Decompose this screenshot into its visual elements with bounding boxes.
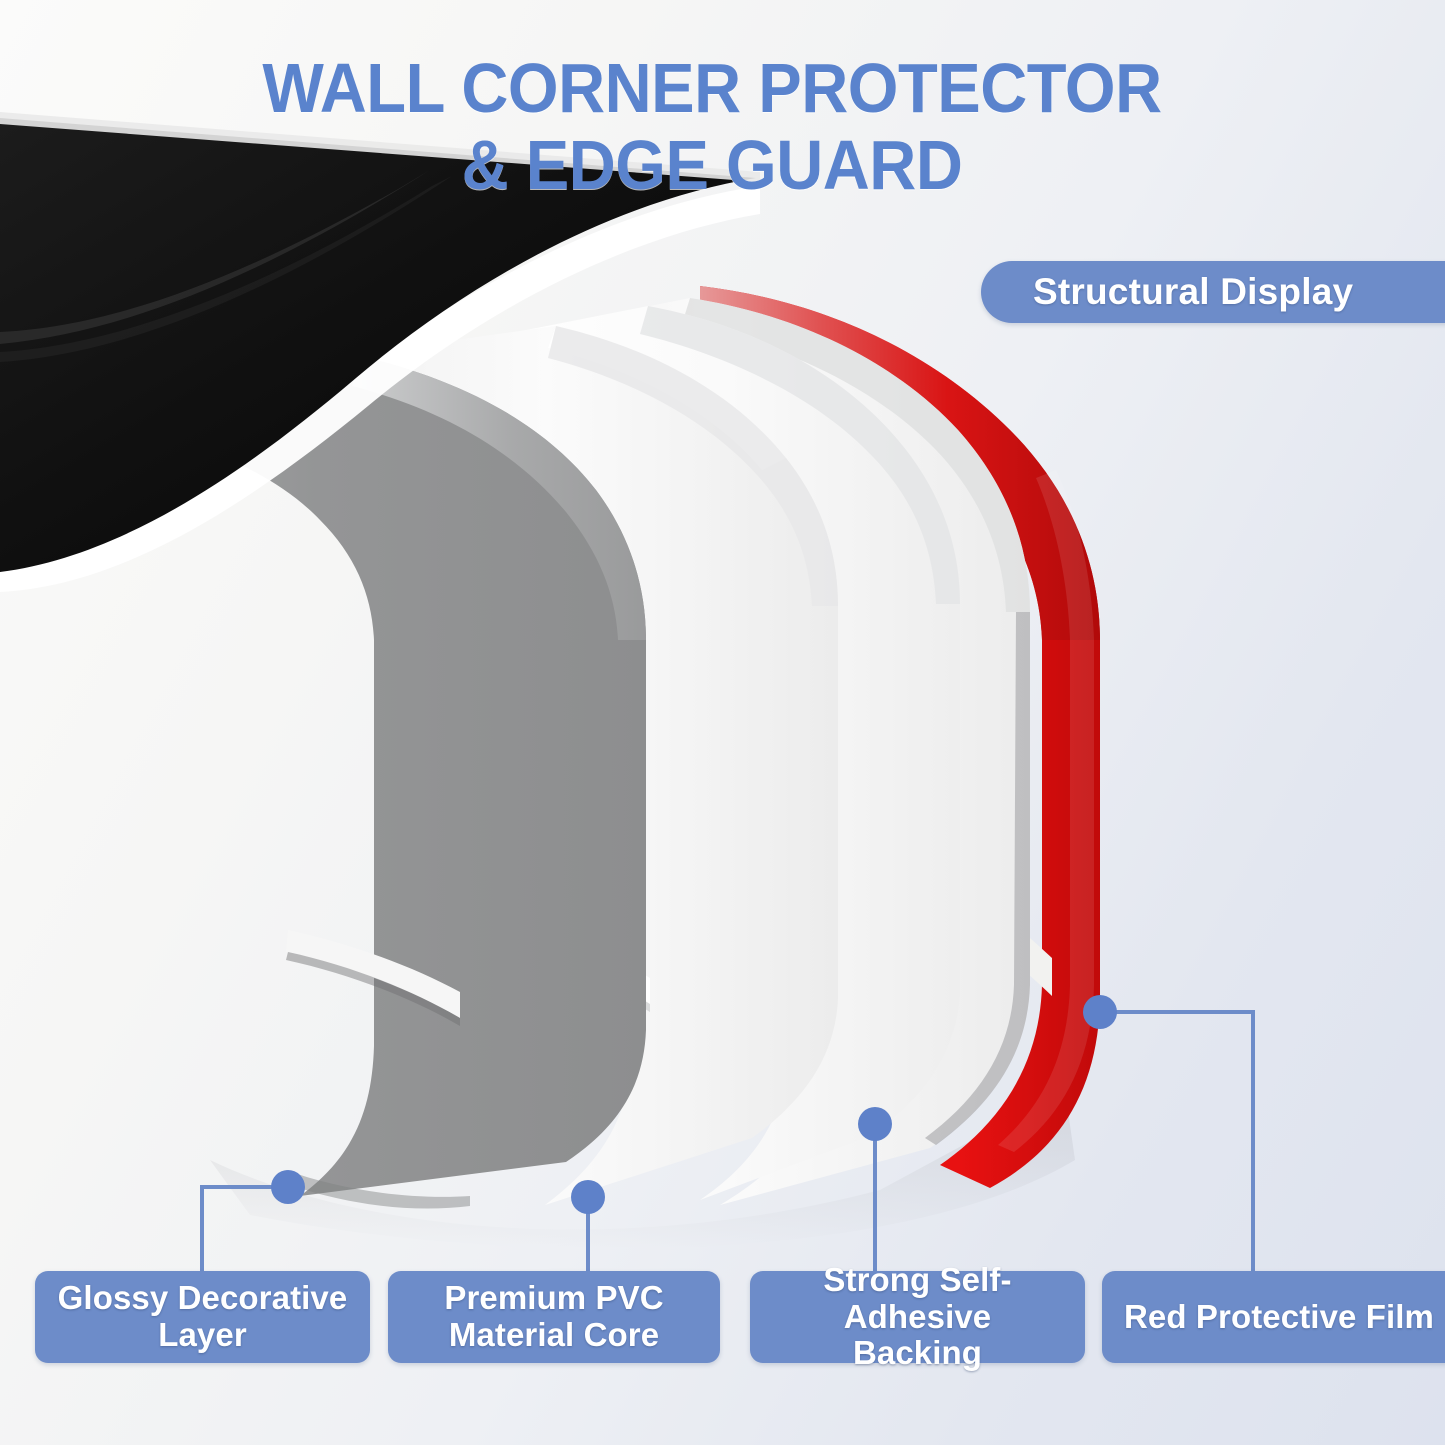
callout-label-strong-self-adhesive-backing: Strong Self-Adhesive Backing <box>750 1271 1085 1363</box>
page-title-line-1: WALL CORNER PROTECTOR <box>50 52 1374 125</box>
callout-label-line-1: Red Protective Film <box>1124 1298 1434 1335</box>
callout-label-premium-pvc-material-core: Premium PVC Material Core <box>388 1271 720 1363</box>
infographic-canvas: WALL CORNER PROTECTOR & EDGE GUARD Struc… <box>0 0 1445 1445</box>
callout-label-text: Premium PVC Material Core <box>444 1280 663 1354</box>
connector-line-red <box>1100 1012 1253 1271</box>
connector-dot-pvc <box>571 1180 605 1214</box>
connector-dot-red <box>1083 995 1117 1029</box>
page-title-line-2: & EDGE GUARD <box>50 129 1374 202</box>
callout-label-text: Glossy Decorative Layer <box>58 1280 348 1354</box>
structural-display-badge: Structural Display <box>981 261 1445 323</box>
structural-display-badge-label: Structural Display <box>1033 271 1353 313</box>
callout-label-glossy-decorative-layer: Glossy Decorative Layer <box>35 1271 370 1363</box>
connector-dot-glossy <box>271 1170 305 1204</box>
page-title: WALL CORNER PROTECTOR & EDGE GUARD <box>50 52 1374 202</box>
callout-label-text: Strong Self-Adhesive Backing <box>764 1262 1071 1373</box>
callout-label-line-1: Glossy Decorative <box>58 1279 348 1316</box>
callout-label-line-2: Layer <box>158 1316 247 1353</box>
callout-label-line-2: Material Core <box>449 1316 659 1353</box>
product-illustration <box>0 0 1445 1445</box>
callout-label-line-2: Backing <box>853 1334 982 1371</box>
callout-label-red-protective-film: Red Protective Film <box>1102 1271 1445 1363</box>
connector-dot-adhesive <box>858 1107 892 1141</box>
callout-label-line-1: Strong Self-Adhesive <box>823 1261 1011 1335</box>
callout-label-text: Red Protective Film <box>1124 1299 1434 1336</box>
callout-label-line-1: Premium PVC <box>444 1279 663 1316</box>
